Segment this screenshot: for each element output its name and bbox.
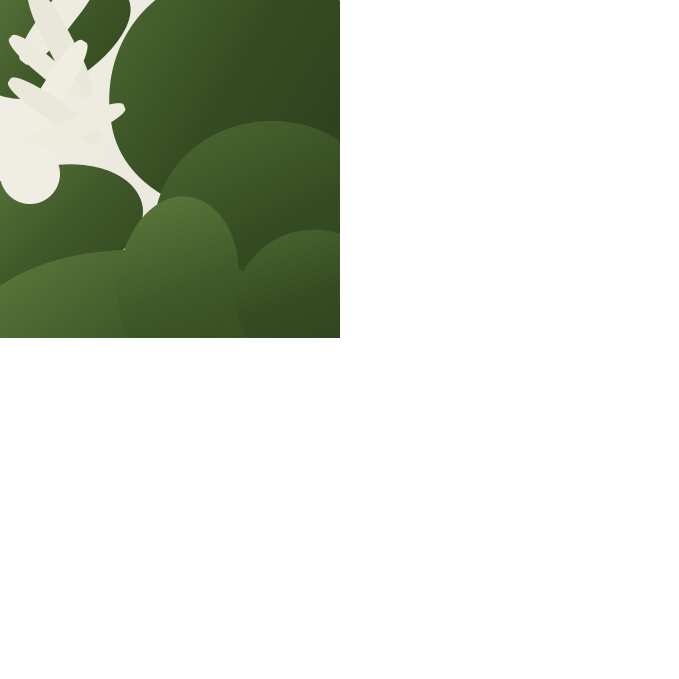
tropical-leaf (0, 312, 236, 446)
water-resistant-photo (0, 0, 340, 338)
straps-design-photo (0, 312, 282, 679)
fabric-print-background (0, 0, 340, 338)
tropical-leaf (0, 507, 219, 658)
product-feature-graphic: Outdoor Water Resistant Fabric The water… (0, 0, 679, 679)
tropical-leaf (0, 422, 185, 536)
